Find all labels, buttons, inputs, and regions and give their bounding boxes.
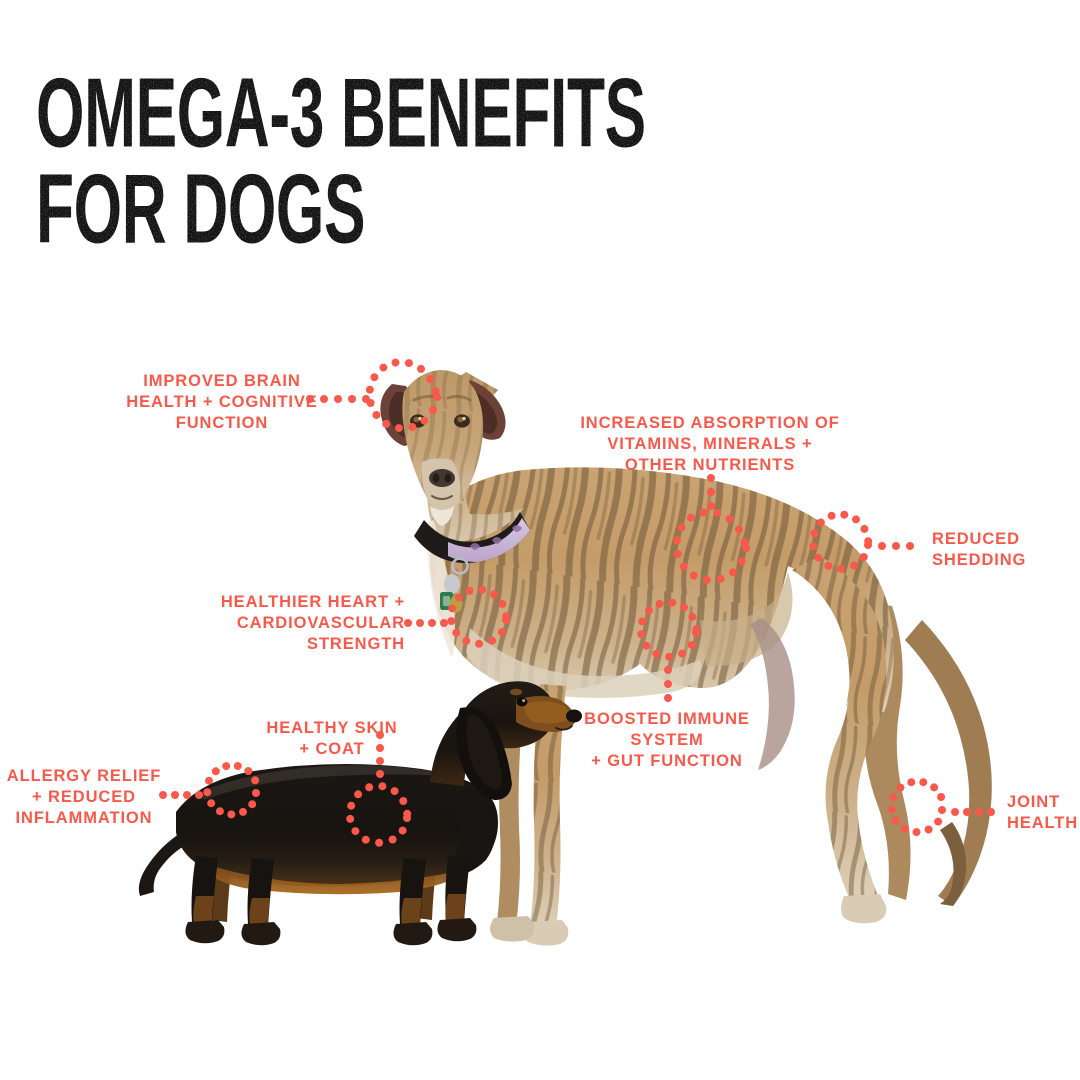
annotation-line: HEALTH + COGNITIVE [62, 392, 382, 413]
annotation-line: OTHER NUTRIENTS [550, 455, 870, 476]
annotation-label-heart: HEALTHIER HEART + CARDIOVASCULAR STRENGT… [185, 592, 405, 655]
annotation-line: SHEDDING [932, 550, 1080, 571]
leader-heart [404, 619, 448, 627]
annotation-label-skin: HEALTHY SKIN + COAT [242, 718, 422, 760]
annotation-line: STRENGTH [185, 634, 405, 655]
infographic-canvas: OMEGA-3 BENEFITS FOR DOGS [0, 0, 1080, 1080]
annotation-line: HEALTHIER HEART + [185, 592, 405, 613]
annotation-line: REDUCED [932, 529, 1080, 550]
annotation-label-immune: BOOSTED IMMUNE SYSTEM + GUT FUNCTION [547, 709, 787, 772]
annotation-line: + GUT FUNCTION [547, 751, 787, 772]
annotation-line: + REDUCED [4, 787, 164, 808]
annotation-line: VITAMINS, MINERALS + [550, 434, 870, 455]
annotation-label-brain: IMPROVED BRAIN HEALTH + COGNITIVE FUNCTI… [62, 371, 382, 434]
annotation-line: CARDIOVASCULAR [185, 613, 405, 634]
annotation-label-shedding: REDUCED SHEDDING [932, 529, 1080, 571]
annotation-line: + COAT [242, 739, 422, 760]
annotation-line: BOOSTED IMMUNE [547, 709, 787, 730]
illustration-layer [0, 0, 1080, 1080]
annotation-label-allergy: ALLERGY RELIEF + REDUCED INFLAMMATION [4, 766, 164, 829]
annotation-line: IMPROVED BRAIN [62, 371, 382, 392]
annotation-line: FUNCTION [62, 413, 382, 434]
leader-absorption [707, 474, 715, 510]
annotation-line: INCREASED ABSORPTION OF [550, 413, 870, 434]
annotation-label-absorption: INCREASED ABSORPTION OF VITAMINS, MINERA… [550, 413, 870, 476]
annotation-line: HEALTH [1007, 813, 1080, 834]
annotation-line: ALLERGY RELIEF [4, 766, 164, 787]
annotation-line: SYSTEM [547, 730, 787, 751]
leader-immune [664, 666, 672, 702]
leader-shedding [878, 542, 914, 550]
annotation-line: JOINT [1007, 792, 1080, 813]
annotation-label-joint: JOINT HEALTH [1007, 792, 1080, 834]
annotation-line: INFLAMMATION [4, 808, 164, 829]
leader-allergy [159, 791, 203, 799]
annotation-line: HEALTHY SKIN [242, 718, 422, 739]
